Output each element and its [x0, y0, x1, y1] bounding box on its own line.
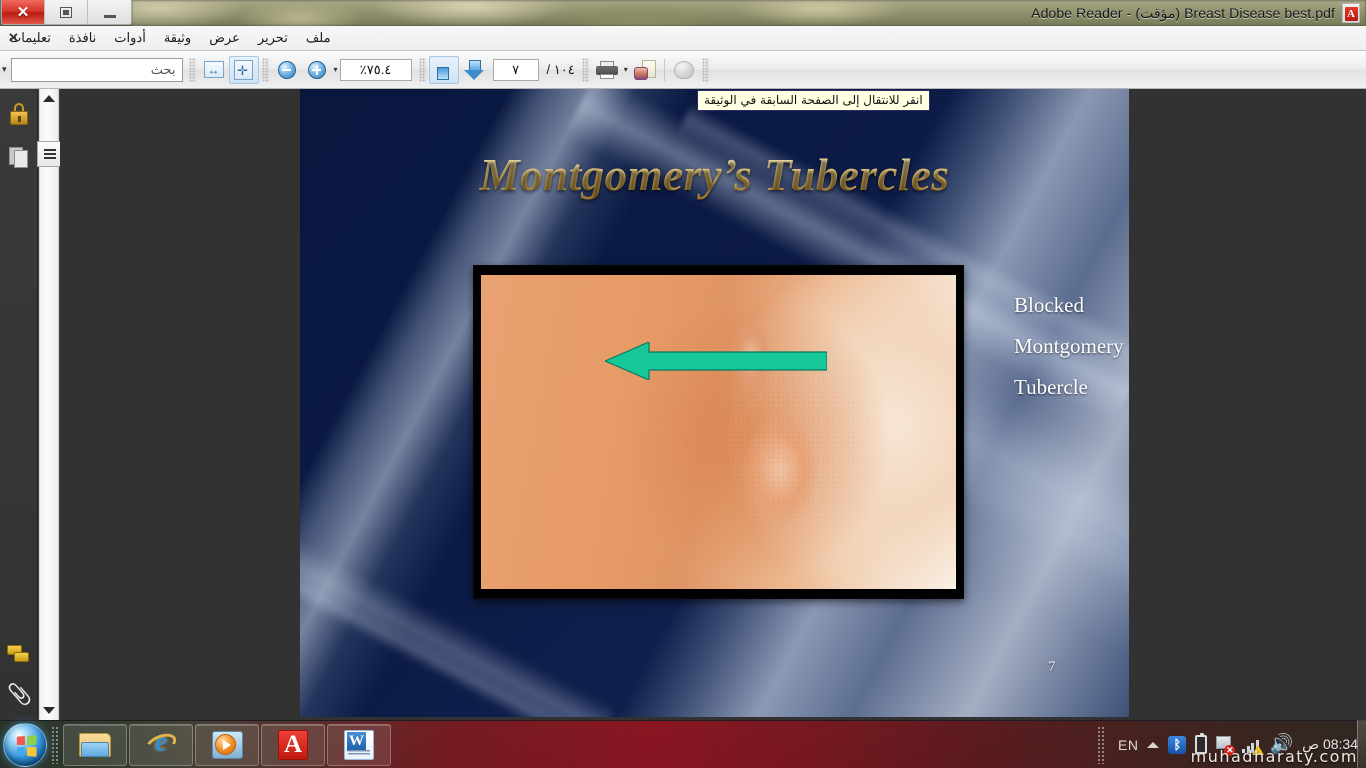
page-total-label: ١٠٤ /: [543, 62, 579, 78]
search-placeholder: بحث: [151, 62, 176, 78]
menu-item-file[interactable]: ملف: [297, 28, 340, 48]
scroll-down-icon[interactable]: [43, 707, 55, 714]
sign-button[interactable]: [630, 56, 660, 84]
toolbar-grip-1[interactable]: [702, 58, 709, 82]
zoom-dropdown-caret-icon[interactable]: ▾: [334, 66, 338, 74]
menu-item-edit[interactable]: تحرير: [249, 28, 297, 48]
search-input[interactable]: بحث: [11, 58, 183, 82]
window-controls: ✕: [1, 0, 132, 25]
taskbar-item-media-player[interactable]: [195, 724, 259, 766]
adobe-reader-icon: A: [278, 730, 308, 760]
bluetooth-icon[interactable]: ᛒ: [1168, 736, 1186, 754]
show-hidden-icons-chevron-up-icon[interactable]: [1147, 742, 1159, 748]
menu-bar: ملف تحرير عرض وثيقة أدوات نافذة تعليمات …: [0, 26, 1366, 51]
restore-window-button[interactable]: [45, 0, 88, 24]
taskbar-pinned-items: e A W: [63, 724, 391, 766]
window-title-bar: Adobe Reader - (مؤقت) Breast Disease bes…: [0, 0, 1366, 26]
fit-page-icon: [234, 60, 253, 80]
windows-logo-icon: [17, 735, 37, 756]
next-page-icon: [463, 59, 485, 81]
toolbar-overflow-caret-icon[interactable]: ▾: [2, 64, 7, 75]
screen: Adobe Reader - (مؤقت) Breast Disease bes…: [0, 0, 1366, 768]
tooltip: انقر للانتقال إلى الصفحة السابقة في الوث…: [697, 90, 930, 111]
previous-page-icon: [433, 59, 455, 81]
menu-item-tools[interactable]: أدوات: [105, 28, 155, 48]
fit-page-button[interactable]: [229, 56, 259, 84]
taskbar: e A W EN ᛒ: [0, 720, 1366, 768]
clinical-photo: [481, 275, 956, 589]
menu-item-view[interactable]: عرض: [200, 28, 249, 48]
navigation-pane: [0, 89, 38, 720]
slide-title: Montgomery’s Tubercles: [300, 149, 1129, 201]
start-button[interactable]: [3, 723, 47, 767]
caption-line-2: Montgomery: [1014, 326, 1129, 367]
taskbar-item-word[interactable]: W: [327, 724, 391, 766]
fit-width-icon: [204, 61, 224, 78]
window-title: Adobe Reader - (مؤقت) Breast Disease bes…: [1031, 5, 1335, 22]
next-page-button[interactable]: [459, 56, 489, 84]
clinical-photo-frame: [473, 265, 964, 599]
document-viewport[interactable]: Montgomery’s Tubercles Blocked Montgomer…: [60, 89, 1366, 720]
page-number-input[interactable]: ٧: [493, 59, 539, 81]
caption-line-1: Blocked: [1014, 285, 1129, 326]
show-desktop-button[interactable]: [1357, 720, 1366, 768]
zoom-in-icon: [308, 61, 326, 79]
close-window-button[interactable]: ✕: [2, 0, 45, 24]
zoom-out-icon: [278, 61, 296, 79]
restore-icon: [60, 7, 72, 18]
page-thumbnails-icon[interactable]: [7, 146, 31, 170]
internet-explorer-icon: e: [146, 730, 176, 760]
toolbar: ▾ ١٠٤ / ٧ ٧٥.٤٪ ▾: [0, 51, 1366, 89]
security-lock-icon[interactable]: [7, 103, 31, 127]
toolbar-grip-2[interactable]: [582, 58, 589, 82]
slide-caption: Blocked Montgomery Tubercle: [1014, 285, 1129, 408]
watermark: muhadharaty.com: [1191, 747, 1358, 766]
zoom-in-button[interactable]: [302, 56, 332, 84]
menu-item-document[interactable]: وثيقة: [155, 28, 200, 48]
tray-grip[interactable]: [1097, 726, 1105, 764]
taskbar-item-explorer[interactable]: [63, 724, 127, 766]
slide-page-number: 7: [1048, 659, 1056, 676]
close-icon: ✕: [17, 5, 30, 20]
microsoft-word-icon: W: [344, 730, 374, 760]
pdf-page: Montgomery’s Tubercles Blocked Montgomer…: [300, 89, 1129, 717]
menu-item-window[interactable]: نافذة: [60, 28, 105, 48]
comments-icon[interactable]: [7, 643, 31, 667]
toolbar-grip-5[interactable]: [189, 58, 196, 82]
taskbar-item-adobe-reader[interactable]: A: [261, 724, 325, 766]
print-icon: [596, 61, 618, 79]
fit-width-button[interactable]: [199, 56, 229, 84]
print-button[interactable]: [592, 56, 622, 84]
previous-page-button[interactable]: [429, 56, 459, 84]
toolbar-grip-4[interactable]: [262, 58, 269, 82]
list-lines-icon: [44, 149, 56, 159]
windows-explorer-icon: [79, 731, 111, 758]
attachments-icon[interactable]: [7, 684, 31, 708]
toolbar-separator-1: [664, 59, 665, 81]
sign-dropdown-caret-icon[interactable]: ▾: [624, 66, 628, 74]
toolbar-grip-3[interactable]: [419, 58, 426, 82]
taskbar-grip[interactable]: [51, 726, 59, 764]
minimize-window-button[interactable]: [88, 0, 131, 24]
pdf-document-icon: [1342, 3, 1360, 23]
zoom-level-input[interactable]: ٧٥.٤٪: [340, 59, 412, 81]
close-document-button[interactable]: ✕: [8, 31, 19, 44]
sign-document-icon: [634, 60, 656, 80]
navigation-scrollbar[interactable]: [39, 89, 59, 720]
zoom-out-button[interactable]: [272, 56, 302, 84]
minimize-icon: [104, 15, 116, 18]
caption-line-3: Tubercle: [1014, 367, 1129, 408]
taskbar-item-internet-explorer[interactable]: e: [129, 724, 193, 766]
globe-icon: [674, 61, 694, 79]
windows-media-player-icon: [212, 731, 243, 759]
scroll-up-icon[interactable]: [43, 95, 55, 102]
language-indicator[interactable]: EN: [1118, 737, 1138, 753]
create-pdf-button[interactable]: [669, 56, 699, 84]
